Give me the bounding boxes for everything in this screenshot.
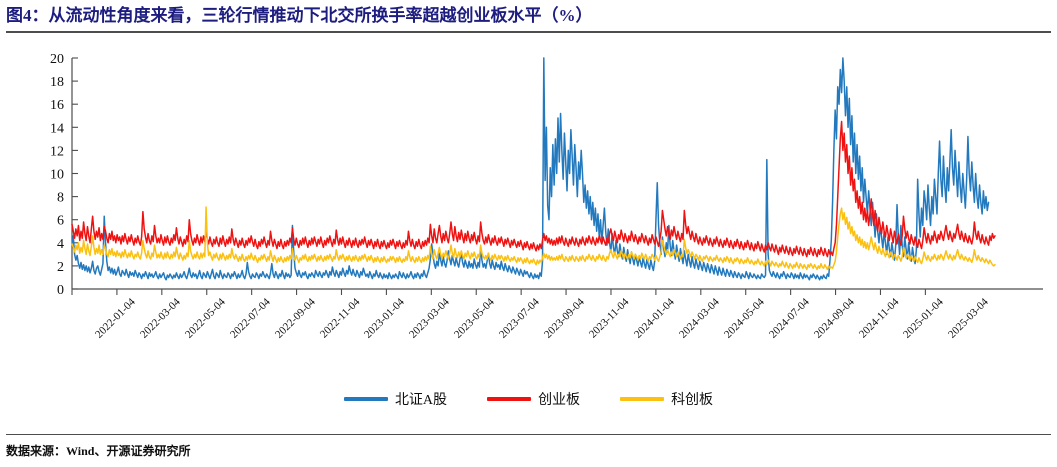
x-tick-label: 2025-01-04: [901, 296, 946, 341]
x-tick-label: 2024-07-04: [767, 296, 812, 341]
y-tick-label: 20: [50, 52, 64, 67]
legend-swatch-icon: [620, 397, 664, 401]
y-tick-label: 6: [57, 214, 64, 229]
x-tick-label: 2023-05-04: [452, 296, 497, 341]
page-title: 图4：从流动性角度来看，三轮行情推动下北交所换手率超越创业板水平（%）: [6, 4, 1051, 28]
y-tick-label: 14: [50, 121, 64, 136]
x-tick-label: 2023-03-04: [407, 296, 452, 341]
footer-divider: [6, 434, 1051, 435]
legend-label: 科创板: [671, 389, 713, 409]
chart-series-group: [72, 58, 995, 280]
y-tick-label: 2: [57, 260, 64, 275]
x-tick-label: 2025-03-04: [946, 296, 991, 341]
x-axis-labels: 2022-01-042022-03-042022-05-042022-07-04…: [0, 292, 1057, 362]
line-chart-svg: 02468101214161820: [0, 40, 1057, 310]
source-note: 数据来源：Wind、开源证券研究所: [6, 442, 190, 459]
x-tick-label: 2022-11-04: [317, 296, 361, 340]
x-tick-label: 2023-09-04: [542, 296, 587, 341]
y-tick-label: 4: [57, 237, 64, 252]
x-tick-label: 2024-05-04: [722, 296, 767, 341]
x-tick-label: 2023-07-04: [497, 296, 542, 341]
x-tick-label: 2022-01-04: [93, 296, 138, 341]
legend-swatch-icon: [487, 397, 531, 401]
x-tick-label: 2023-01-04: [363, 296, 408, 341]
legend-label: 北证A股: [395, 389, 447, 409]
x-tick-label: 2024-11-04: [856, 296, 900, 340]
x-tick-label: 2022-09-04: [273, 296, 318, 341]
chart-plot-area: 02468101214161820: [0, 40, 1057, 310]
y-tick-label: 18: [50, 75, 64, 90]
x-tick-label: 2023-11-04: [587, 296, 631, 340]
legend-item[interactable]: 科创板: [620, 389, 713, 409]
chart-legend: 北证A股创业板科创板: [0, 386, 1057, 412]
legend-swatch-icon: [344, 397, 388, 401]
x-tick-label: 2024-03-04: [677, 296, 722, 341]
x-tick-label: 2024-01-04: [632, 296, 677, 341]
x-tick-label: 2022-03-04: [138, 296, 183, 341]
legend-label: 创业板: [538, 389, 580, 409]
x-tick-label: 2024-09-04: [812, 296, 857, 341]
x-tick-label: 2022-07-04: [228, 296, 273, 341]
legend-item[interactable]: 北证A股: [344, 389, 447, 409]
y-tick-label: 16: [50, 98, 64, 113]
title-bar: 图4：从流动性角度来看，三轮行情推动下北交所换手率超越创业板水平（%）: [6, 4, 1051, 32]
title-divider: [6, 31, 1051, 33]
y-axis-tick-labels: 02468101214161820: [50, 52, 64, 298]
y-tick-label: 12: [50, 144, 64, 159]
y-tick-label: 8: [57, 191, 64, 206]
chart-page: 图4：从流动性角度来看，三轮行情推动下北交所换手率超越创业板水平（%） 0246…: [0, 0, 1057, 467]
legend-item[interactable]: 创业板: [487, 389, 580, 409]
x-tick-label: 2022-05-04: [183, 296, 228, 341]
y-tick-label: 10: [50, 168, 64, 183]
